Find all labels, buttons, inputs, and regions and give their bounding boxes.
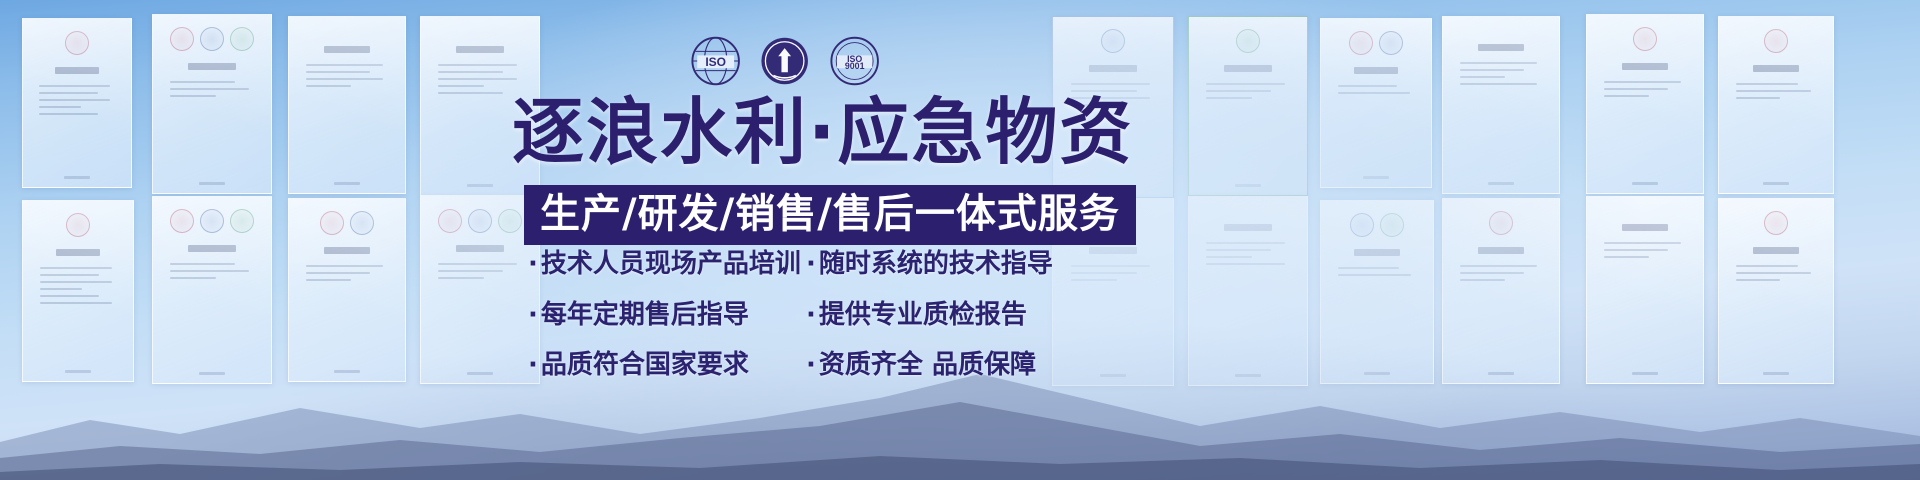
feature-text: 资质齐全 品质保障 <box>819 350 1036 380</box>
feature-text: 品质符合国家要求 <box>541 350 749 380</box>
banner-subtitle: 生产/研发/销售/售后一体式服务 <box>540 191 1120 237</box>
bullet-dot-icon: · <box>528 249 538 279</box>
feature-text: 每年定期售后指导 <box>541 300 749 330</box>
bullet-dot-icon: · <box>806 350 816 380</box>
feature-item: ·技术人员现场产品培训 <box>528 248 806 281</box>
bullet-dot-icon: · <box>528 350 538 380</box>
banner-subtitle-bar: 生产/研发/销售/售后一体式服务 <box>524 185 1136 245</box>
banner-content: 逐浪水利·应急物资 生产/研发/销售/售后一体式服务 ·技术人员现场产品培训 ·… <box>0 0 1920 480</box>
bullet-dot-icon: · <box>806 249 816 279</box>
feature-item: ·随时系统的技术指导 <box>806 248 1068 281</box>
feature-text: 随时系统的技术指导 <box>819 249 1053 279</box>
feature-text: 技术人员现场产品培训 <box>541 249 801 279</box>
bullet-dot-icon: · <box>528 300 538 330</box>
feature-item: ·提供专业质检报告 <box>806 299 1068 332</box>
bullet-dot-icon: · <box>806 300 816 330</box>
banner-title: 逐浪水利·应急物资 <box>512 96 1133 168</box>
feature-text: 提供专业质检报告 <box>819 300 1027 330</box>
feature-item: ·资质齐全 品质保障 <box>806 349 1068 382</box>
promo-banner: ISO ISO 9001 逐浪水利·应急物资 生产/研发/销售/售后一体式服务 … <box>0 0 1920 480</box>
feature-item: ·每年定期售后指导 <box>528 299 806 332</box>
feature-item: ·品质符合国家要求 <box>528 349 806 382</box>
feature-list: ·技术人员现场产品培训 ·随时系统的技术指导 ·每年定期售后指导 ·提供专业质检… <box>528 248 1068 382</box>
